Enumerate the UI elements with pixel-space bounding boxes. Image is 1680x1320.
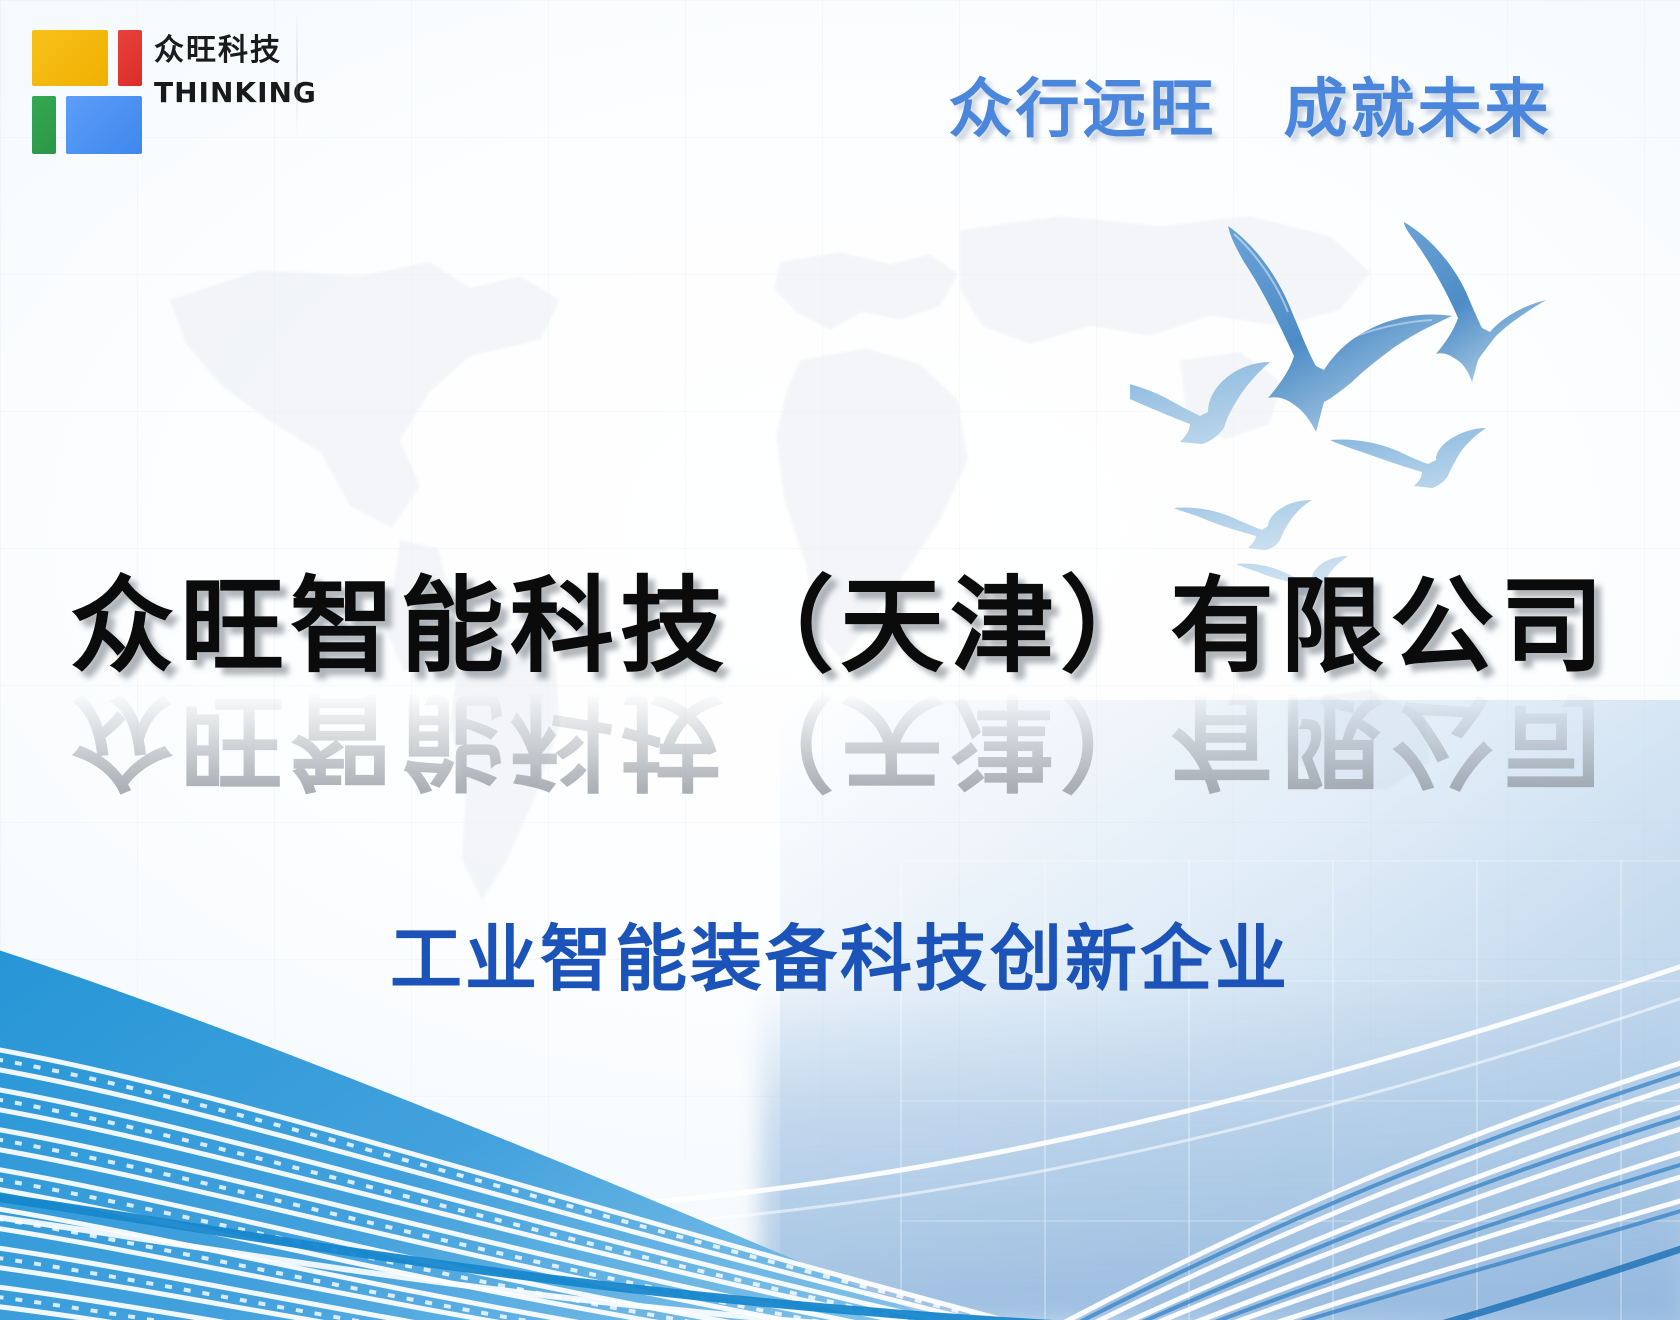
logo-english-name: THINKING [154, 76, 314, 110]
presentation-slide: 众旺科技 THINKING 众行远旺 成就未来 [0, 0, 1680, 1320]
seagull-midright-icon [1330, 428, 1486, 488]
page-title-text: 众旺智能科技（天津）有限公司 [0, 568, 1680, 684]
logo-chinese-name: 众旺科技 [154, 32, 314, 70]
logo-blue-block-icon [66, 96, 142, 154]
seagull-topright-icon [1404, 222, 1546, 382]
seagull-lowerleft-icon [1174, 500, 1312, 550]
logo-green-block-icon [32, 96, 56, 154]
seagull-midleft-icon [1130, 362, 1270, 444]
logo-divider [296, 8, 298, 138]
logo-red-block-icon [118, 30, 142, 86]
logo-yellow-block-icon [32, 30, 108, 86]
page-subtitle: 工业智能装备科技创新企业 [0, 900, 1680, 1005]
logo-blocks-icon [26, 26, 148, 154]
logo-wordmark: 众旺科技 THINKING [154, 32, 314, 109]
page-title: 众旺智能科技（天津）有限公司 [0, 568, 1680, 684]
company-logo: 众旺科技 THINKING [26, 26, 296, 156]
seagulls-group-icon [1130, 200, 1680, 620]
header-tagline: 众行远旺 成就未来 [940, 58, 1560, 150]
seagull-large-icon [1228, 226, 1452, 432]
